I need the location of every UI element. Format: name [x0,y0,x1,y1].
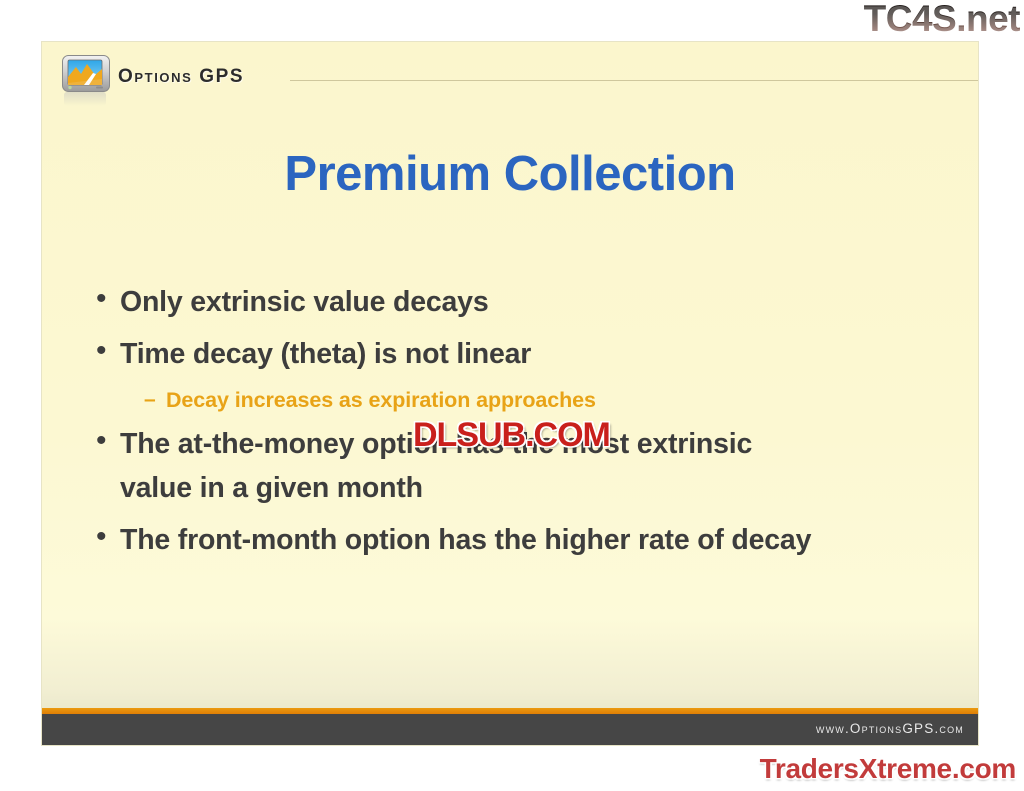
logo-reflection [64,92,106,106]
sub-list-item: – Decay increases as expiration approach… [90,384,950,416]
bullet-marker: • [90,280,120,318]
bullet-marker: • [90,332,120,370]
list-item-text: The front-month option has the higher ra… [120,518,915,562]
bullet-marker: • [90,422,120,460]
list-item: • The front-month option has the higher … [90,518,950,562]
watermark-top-right: TC4S.net [864,0,1020,40]
list-item: • Time decay (theta) is not linear [90,332,950,376]
watermark-bottom-right: TradersXtreme.com [760,753,1016,785]
list-item-text: Time decay (theta) is not linear [120,332,915,376]
watermark-center: DLSUB.COM [413,416,610,455]
gps-device-icon [62,55,110,92]
sub-list-item-text: Decay increases as expiration approaches [166,384,950,416]
slide-footer: www.OptionsGPS.com [42,714,978,745]
bullet-marker: • [90,518,120,556]
header-divider [290,80,978,81]
slide-canvas: Options GPS Premium Collection • Only ex… [42,42,978,745]
footer-url: www.OptionsGPS.com [816,721,964,736]
sub-bullet-marker: – [144,384,166,416]
slide-header: Options GPS [42,42,978,104]
list-item-text: Only extrinsic value decays [120,280,915,324]
page-title: Premium Collection [42,146,978,202]
brand-wordmark: Options GPS [118,66,244,88]
list-item: • Only extrinsic value decays [90,280,950,324]
